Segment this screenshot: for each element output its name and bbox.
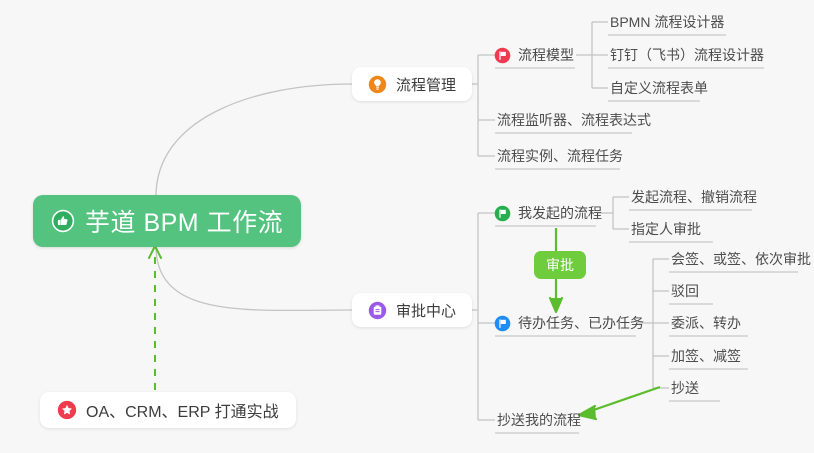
root-label: 芋道 BPM 工作流: [85, 203, 283, 239]
node-bpmn-designer[interactable]: BPMN 流程设计器: [604, 10, 730, 34]
node-label: 委派、转办: [671, 313, 741, 333]
node-label: 发起流程、撤销流程: [631, 187, 757, 207]
node-label: 指定人审批: [631, 219, 701, 239]
node-label: 待办任务、已办任务: [518, 313, 644, 333]
node-assignee-approval[interactable]: 指定人审批: [625, 217, 707, 241]
green-dashed-arrow: [149, 246, 161, 390]
node-instance-task[interactable]: 流程实例、流程任务: [491, 144, 629, 168]
flag-red-icon: [494, 47, 511, 64]
callout-label: OA、CRM、ERP 打通实战: [86, 398, 279, 422]
node-label: 驳回: [671, 281, 699, 301]
node-custom-form[interactable]: 自定义流程表单: [604, 76, 714, 100]
node-cc[interactable]: 抄送: [665, 376, 705, 400]
node-label: 抄送我的流程: [497, 410, 581, 430]
node-dingtalk-designer[interactable]: 钉钉（飞书）流程设计器: [604, 43, 770, 67]
node-cc-to-me-process[interactable]: 抄送我的流程: [491, 408, 587, 432]
node-todo-done-task[interactable]: 待办任务、已办任务: [492, 311, 650, 335]
node-add-remove-sign[interactable]: 加签、减签: [665, 344, 747, 368]
node-listener-expression[interactable]: 流程监听器、流程表达式: [491, 108, 657, 132]
node-my-started-process[interactable]: 我发起的流程: [492, 201, 608, 225]
star-icon: [57, 400, 77, 420]
badge-label: 审批: [546, 255, 574, 275]
node-label: 我发起的流程: [518, 203, 602, 223]
node-label: 钉钉（飞书）流程设计器: [610, 45, 764, 65]
green-arrow-cc: [579, 387, 660, 419]
root-node[interactable]: 芋道 BPM 工作流: [33, 195, 301, 247]
node-label: 会签、或签、依次审批: [671, 249, 811, 269]
clipboard-icon: [368, 301, 387, 320]
branch-label: 审批中心: [396, 300, 456, 321]
node-reject[interactable]: 驳回: [665, 279, 705, 303]
node-label: 自定义流程表单: [610, 78, 708, 98]
callout-node[interactable]: OA、CRM、ERP 打通实战: [40, 392, 296, 428]
node-label: 流程监听器、流程表达式: [497, 110, 651, 130]
link-root-to-approval-center: [156, 246, 352, 310]
branch-approval-center[interactable]: 审批中心: [352, 293, 472, 327]
thumbs-up-icon: [51, 209, 75, 233]
node-label: 抄送: [671, 378, 699, 398]
approval-badge: 审批: [534, 251, 586, 279]
node-label: BPMN 流程设计器: [610, 12, 724, 32]
flag-green-icon: [494, 205, 511, 222]
branch-label: 流程管理: [396, 74, 456, 95]
flag-blue-icon: [494, 315, 511, 332]
node-delegate-transfer[interactable]: 委派、转办: [665, 311, 747, 335]
link-root-to-process-management: [156, 84, 352, 196]
node-countersign[interactable]: 会签、或签、依次审批: [665, 247, 814, 271]
lightbulb-icon: [368, 75, 387, 94]
node-label: 加签、减签: [671, 346, 741, 366]
mindmap-canvas: 芋道 BPM 工作流 流程管理 流程模型 BPMN 流程设计器 钉钉（飞书: [0, 0, 814, 453]
node-label: 流程实例、流程任务: [497, 146, 623, 166]
node-start-cancel-process[interactable]: 发起流程、撤销流程: [625, 185, 763, 209]
node-label: 流程模型: [518, 45, 574, 65]
branch-process-management[interactable]: 流程管理: [352, 67, 472, 101]
node-process-model[interactable]: 流程模型: [492, 43, 580, 67]
